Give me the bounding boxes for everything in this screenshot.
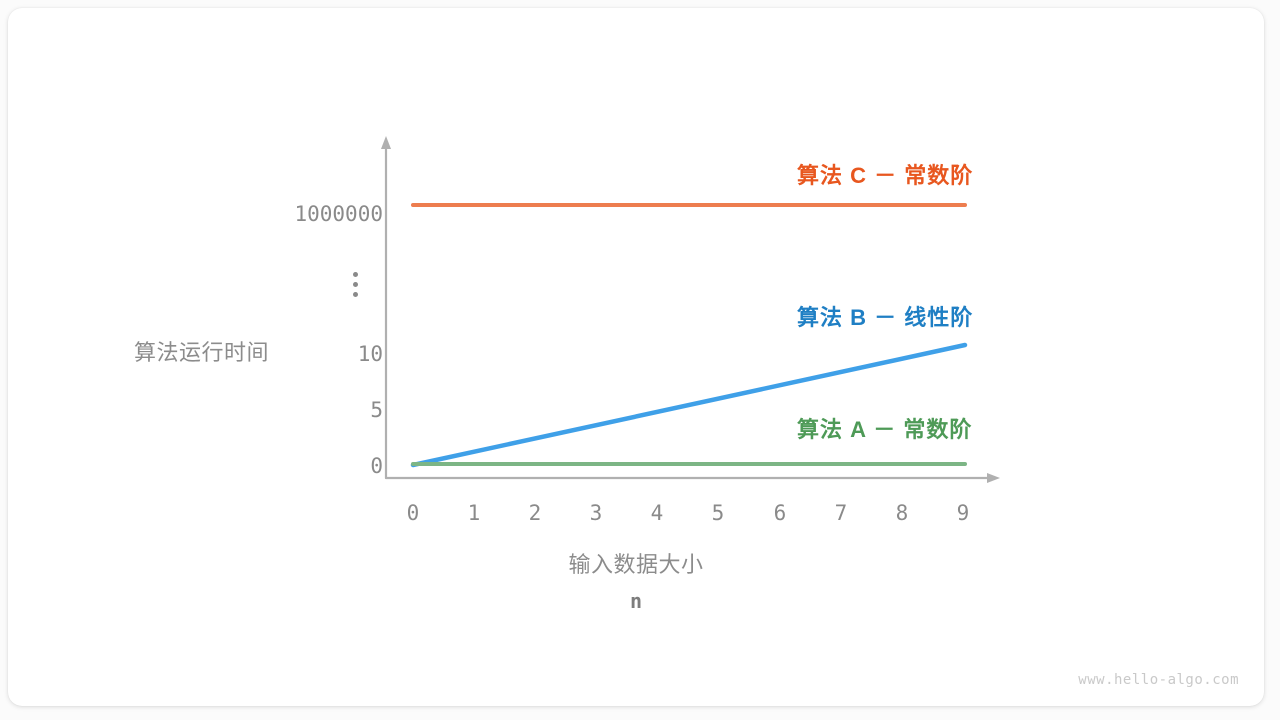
watermark: www.hello-algo.com	[1078, 672, 1239, 688]
x-tick-8: 8	[875, 503, 929, 524]
x-tick-3: 3	[569, 503, 623, 524]
x-axis-title: 输入数据大小	[8, 554, 1264, 576]
y-tick-ellipsis-icon	[353, 272, 359, 297]
figure-card: 1000000 10 5 0 算法运行时间 0 1 2 3 4 5 6 7 8 …	[8, 8, 1264, 706]
x-tick-9: 9	[936, 503, 990, 524]
x-tick-5: 5	[691, 503, 745, 524]
x-tick-4: 4	[630, 503, 684, 524]
chart-canvas: 1000000 10 5 0 算法运行时间 0 1 2 3 4 5 6 7 8 …	[8, 8, 1264, 706]
legend-series-b: 算法 B － 线性阶	[797, 307, 973, 329]
y-tick-5: 5	[263, 400, 383, 421]
y-axis-arrow-icon	[381, 136, 391, 149]
x-tick-2: 2	[508, 503, 562, 524]
page-root: 1000000 10 5 0 算法运行时间 0 1 2 3 4 5 6 7 8 …	[0, 0, 1280, 720]
x-axis-variable: n	[8, 591, 1264, 611]
y-axis-title: 算法运行时间	[134, 342, 269, 364]
x-axis-arrow-icon	[987, 473, 1000, 483]
legend-series-a: 算法 A － 常数阶	[797, 419, 972, 441]
y-tick-10: 10	[263, 344, 383, 365]
x-tick-0: 0	[386, 503, 440, 524]
x-tick-7: 7	[814, 503, 868, 524]
legend-series-c: 算法 C － 常数阶	[797, 165, 973, 187]
series-line-b	[413, 345, 965, 465]
y-tick-0: 0	[263, 456, 383, 477]
x-tick-6: 6	[753, 503, 807, 524]
y-tick-1000000: 1000000	[223, 204, 383, 225]
x-tick-1: 1	[447, 503, 501, 524]
